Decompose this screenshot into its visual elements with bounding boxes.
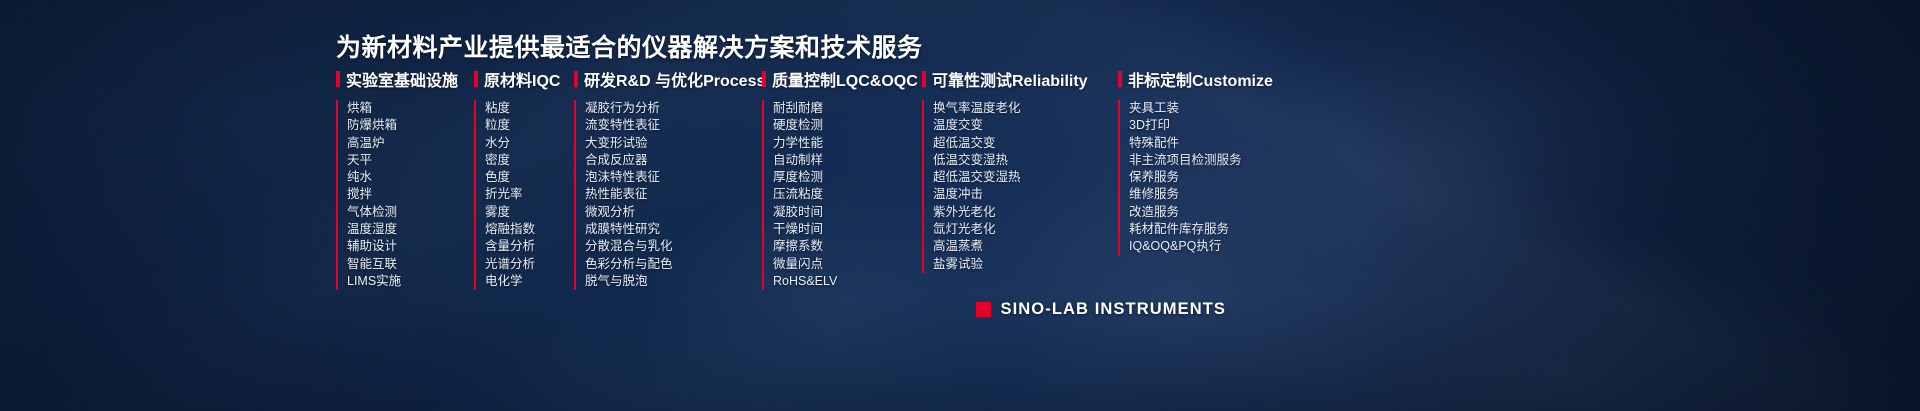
- list-item[interactable]: 含量分析: [485, 238, 574, 255]
- list-item[interactable]: 微量闪点: [773, 256, 922, 273]
- list-item[interactable]: 色彩分析与配色: [585, 256, 762, 273]
- list-item[interactable]: 粘度: [485, 100, 574, 117]
- category-item-list: 凝胶行为分析 流变特性表征 大变形试验 合成反应器 泡沫特性表征 热性能表征 微…: [574, 100, 762, 290]
- list-item[interactable]: 水分: [485, 135, 574, 152]
- list-item[interactable]: 厚度检测: [773, 169, 922, 186]
- list-item[interactable]: 高温蒸煮: [933, 238, 1118, 255]
- list-item[interactable]: 温度湿度: [347, 221, 474, 238]
- red-bar-icon: [922, 71, 926, 87]
- red-bar-icon: [474, 71, 478, 87]
- list-item[interactable]: 换气率温度老化: [933, 100, 1118, 117]
- list-item[interactable]: 泡沫特性表征: [585, 169, 762, 186]
- list-item[interactable]: 维修服务: [1129, 186, 1318, 203]
- category-item-list: 换气率温度老化 温度交变 超低温交变 低温交变湿热 超低温交变湿热 温度冲击 紫…: [922, 100, 1118, 273]
- list-item[interactable]: 电化学: [485, 273, 574, 290]
- list-item[interactable]: 摩擦系数: [773, 238, 922, 255]
- category-item-list: 耐刮耐磨 硬度检测 力学性能 自动制样 厚度检测 压流粘度 凝胶时间 干燥时间 …: [762, 100, 922, 290]
- category-item-list: 夹具工装 3D打印 特殊配件 非主流项目检测服务 保养服务 维修服务 改造服务 …: [1118, 100, 1318, 256]
- list-item[interactable]: 流变特性表征: [585, 117, 762, 134]
- category-column-reliability: 可靠性测试Reliability 换气率温度老化 温度交变 超低温交变 低温交变…: [922, 67, 1118, 290]
- category-header-label: 研发R&D 与优化Process: [584, 67, 765, 91]
- list-item[interactable]: 凝胶行为分析: [585, 100, 762, 117]
- category-header-label: 原材料IQC: [484, 67, 560, 91]
- list-item[interactable]: 光谱分析: [485, 256, 574, 273]
- list-item[interactable]: 低温交变湿热: [933, 152, 1118, 169]
- logo-mark-icon: [976, 302, 991, 317]
- service-categories: 实验室基础设施 烘箱 防爆烘箱 高温炉 天平 纯水 搅拌 气体检测 温度湿度 辅…: [336, 67, 1318, 290]
- list-item[interactable]: 天平: [347, 152, 474, 169]
- list-item[interactable]: 特殊配件: [1129, 135, 1318, 152]
- list-item[interactable]: 粒度: [485, 117, 574, 134]
- red-bar-icon: [762, 71, 766, 87]
- list-item[interactable]: 夹具工装: [1129, 100, 1318, 117]
- list-item[interactable]: 改造服务: [1129, 204, 1318, 221]
- category-column-raw-material-iqc: 原材料IQC 粘度 粒度 水分 密度 色度 折光率 雾度 熔融指数 含量分析 光…: [474, 67, 574, 290]
- list-item[interactable]: 分散混合与乳化: [585, 238, 762, 255]
- list-item[interactable]: 密度: [485, 152, 574, 169]
- list-item[interactable]: 力学性能: [773, 135, 922, 152]
- list-item[interactable]: 高温炉: [347, 135, 474, 152]
- red-bar-icon: [336, 71, 340, 87]
- page-title: 为新材料产业提供最适合的仪器解决方案和技术服务: [336, 28, 923, 64]
- list-item[interactable]: 雾度: [485, 204, 574, 221]
- list-item[interactable]: 超低温交变: [933, 135, 1118, 152]
- list-item[interactable]: 辅助设计: [347, 238, 474, 255]
- category-column-rnd-process: 研发R&D 与优化Process 凝胶行为分析 流变特性表征 大变形试验 合成反…: [574, 67, 762, 290]
- list-item[interactable]: 合成反应器: [585, 152, 762, 169]
- list-item[interactable]: 非主流项目检测服务: [1129, 152, 1318, 169]
- red-bar-icon: [1118, 71, 1122, 87]
- category-column-quality-control: 质量控制LQC&OQC 耐刮耐磨 硬度检测 力学性能 自动制样 厚度检测 压流粘…: [762, 67, 922, 290]
- list-item[interactable]: 保养服务: [1129, 169, 1318, 186]
- list-item[interactable]: 大变形试验: [585, 135, 762, 152]
- list-item[interactable]: 成膜特性研究: [585, 221, 762, 238]
- list-item[interactable]: 智能互联: [347, 256, 474, 273]
- category-item-list: 粘度 粒度 水分 密度 色度 折光率 雾度 熔融指数 含量分析 光谱分析 电化学: [474, 100, 574, 290]
- list-item[interactable]: 凝胶时间: [773, 204, 922, 221]
- list-item[interactable]: 折光率: [485, 186, 574, 203]
- category-header: 研发R&D 与优化Process: [574, 67, 762, 91]
- list-item[interactable]: 温度冲击: [933, 186, 1118, 203]
- category-column-customize: 非标定制Customize 夹具工装 3D打印 特殊配件 非主流项目检测服务 保…: [1118, 67, 1318, 290]
- list-item[interactable]: 熔融指数: [485, 221, 574, 238]
- banner-content: 为新材料产业提供最适合的仪器解决方案和技术服务 实验室基础设施 烘箱 防爆烘箱 …: [0, 0, 1920, 411]
- list-item[interactable]: 防爆烘箱: [347, 117, 474, 134]
- list-item[interactable]: 3D打印: [1129, 117, 1318, 134]
- brand-logo[interactable]: SINO-LAB INSTRUMENTS: [976, 300, 1227, 319]
- category-header: 质量控制LQC&OQC: [762, 67, 922, 91]
- list-item[interactable]: 搅拌: [347, 186, 474, 203]
- list-item[interactable]: 氙灯光老化: [933, 221, 1118, 238]
- list-item[interactable]: 超低温交变湿热: [933, 169, 1118, 186]
- category-header-label: 非标定制Customize: [1128, 67, 1273, 91]
- category-header-label: 可靠性测试Reliability: [932, 67, 1088, 91]
- list-item[interactable]: 干燥时间: [773, 221, 922, 238]
- list-item[interactable]: 耐刮耐磨: [773, 100, 922, 117]
- list-item[interactable]: 自动制样: [773, 152, 922, 169]
- marketing-banner: 为新材料产业提供最适合的仪器解决方案和技术服务 实验室基础设施 烘箱 防爆烘箱 …: [0, 0, 1920, 411]
- list-item[interactable]: 温度交变: [933, 117, 1118, 134]
- list-item[interactable]: 色度: [485, 169, 574, 186]
- category-header: 非标定制Customize: [1118, 67, 1318, 91]
- list-item[interactable]: 紫外光老化: [933, 204, 1118, 221]
- list-item[interactable]: IQ&OQ&PQ执行: [1129, 238, 1318, 255]
- list-item[interactable]: LIMS实施: [347, 273, 474, 290]
- category-column-lab-infrastructure: 实验室基础设施 烘箱 防爆烘箱 高温炉 天平 纯水 搅拌 气体检测 温度湿度 辅…: [336, 67, 474, 290]
- red-bar-icon: [574, 71, 578, 87]
- list-item[interactable]: 微观分析: [585, 204, 762, 221]
- category-item-list: 烘箱 防爆烘箱 高温炉 天平 纯水 搅拌 气体检测 温度湿度 辅助设计 智能互联…: [336, 100, 474, 290]
- list-item[interactable]: 热性能表征: [585, 186, 762, 203]
- list-item[interactable]: 盐雾试验: [933, 256, 1118, 273]
- list-item[interactable]: RoHS&ELV: [773, 273, 922, 290]
- list-item[interactable]: 纯水: [347, 169, 474, 186]
- list-item[interactable]: 硬度检测: [773, 117, 922, 134]
- category-header: 实验室基础设施: [336, 67, 474, 91]
- list-item[interactable]: 耗材配件库存服务: [1129, 221, 1318, 238]
- category-header: 原材料IQC: [474, 67, 574, 91]
- list-item[interactable]: 气体检测: [347, 204, 474, 221]
- list-item[interactable]: 脱气与脱泡: [585, 273, 762, 290]
- category-header-label: 质量控制LQC&OQC: [772, 67, 918, 91]
- brand-name-label: SINO-LAB INSTRUMENTS: [1001, 300, 1227, 319]
- category-header: 可靠性测试Reliability: [922, 67, 1118, 91]
- category-header-label: 实验室基础设施: [346, 67, 458, 91]
- list-item[interactable]: 烘箱: [347, 100, 474, 117]
- list-item[interactable]: 压流粘度: [773, 186, 922, 203]
